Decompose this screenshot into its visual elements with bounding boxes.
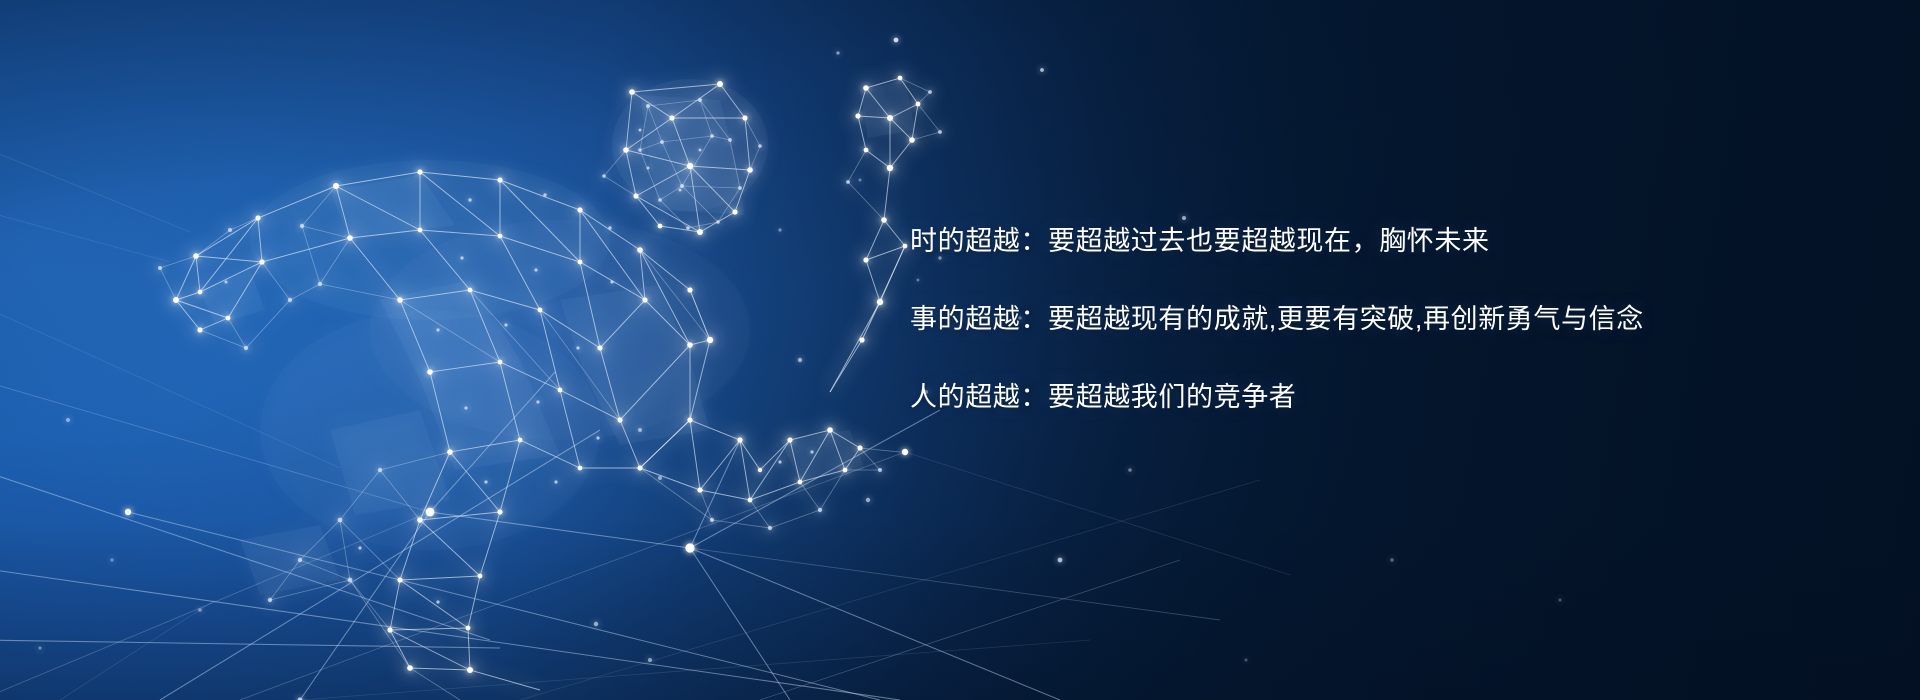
- tagline-people: 人的超越：要超越我们的竞争者: [910, 384, 1810, 411]
- hero-banner: 时的超越：要超越过去也要超越现在，胸怀未来 事的超越：要超越现有的成就,更要有突…: [0, 0, 1920, 700]
- tagline-time: 时的超越：要超越过去也要超越现在，胸怀未来: [910, 228, 1810, 255]
- figure-front-leg: [640, 420, 900, 530]
- tagline-matter: 事的超越：要超越现有的成就,更要有突破,再创新勇气与信念: [910, 306, 1810, 333]
- tagline-block: 时的超越：要超越过去也要超越现在，胸怀未来 事的超越：要超越现有的成就,更要有突…: [910, 228, 1810, 411]
